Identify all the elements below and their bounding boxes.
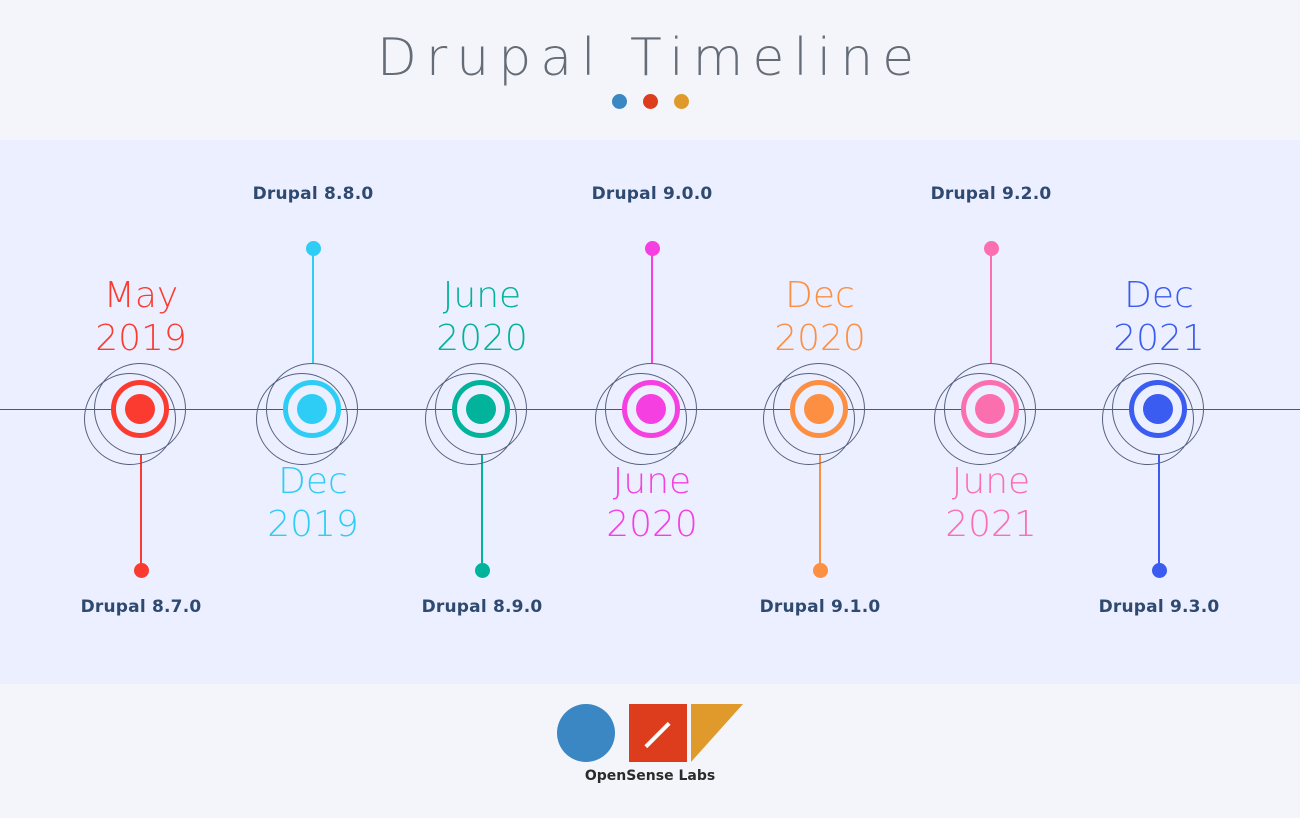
marker-stem (481, 455, 483, 570)
infographic-canvas: Drupal Timeline May 2019Drupal 8.7.0Dec … (0, 0, 1300, 818)
marker-rings (1112, 363, 1206, 457)
logo-square-icon (629, 704, 687, 762)
marker-stem (140, 455, 142, 570)
brand-name: OpenSense Labs (0, 768, 1300, 784)
marker-version-label: Drupal 9.3.0 (1009, 597, 1300, 617)
marker-stem-dot (813, 563, 828, 578)
logo-triangle-icon (691, 704, 743, 762)
marker-version-label: Drupal 8.7.0 (0, 597, 291, 617)
marker-date: June 2020 (362, 274, 602, 360)
header: Drupal Timeline (0, 0, 1300, 140)
marker-center-dot (1143, 394, 1173, 424)
marker-date: May 2019 (21, 274, 261, 360)
marker-version-label: Drupal 9.1.0 (670, 597, 970, 617)
marker-stem (312, 248, 314, 363)
logo-slash-icon (644, 722, 670, 748)
marker-stem-dot (645, 241, 660, 256)
marker-stem-dot (1152, 563, 1167, 578)
marker-stem (819, 455, 821, 570)
marker-center-dot (804, 394, 834, 424)
marker-stem-dot (475, 563, 490, 578)
marker-version-label: Drupal 8.8.0 (163, 184, 463, 204)
marker-rings (773, 363, 867, 457)
page-title: Drupal Timeline (0, 28, 1300, 88)
marker-rings (435, 363, 529, 457)
marker-date: June 2021 (871, 460, 1111, 546)
footer-logo: OpenSense Labs (0, 700, 1300, 784)
marker-stem-dot (306, 241, 321, 256)
marker-version-label: Drupal 8.9.0 (332, 597, 632, 617)
marker-center-dot (297, 394, 327, 424)
marker-stem (990, 248, 992, 363)
title-accent-dots (0, 94, 1300, 109)
marker-center-dot (466, 394, 496, 424)
marker-date: June 2020 (532, 460, 772, 546)
marker-version-label: Drupal 9.0.0 (502, 184, 802, 204)
marker-stem-dot (984, 241, 999, 256)
marker-rings (944, 363, 1038, 457)
marker-center-dot (636, 394, 666, 424)
accent-dot-blue (612, 94, 627, 109)
accent-dot-red (643, 94, 658, 109)
marker-rings (605, 363, 699, 457)
marker-date: Dec 2021 (1039, 274, 1279, 360)
marker-date: Dec 2020 (700, 274, 940, 360)
marker-center-dot (125, 394, 155, 424)
marker-stem (651, 248, 653, 363)
accent-dot-orange (674, 94, 689, 109)
logo-shapes (557, 700, 743, 762)
marker-date: Dec 2019 (193, 460, 433, 546)
marker-version-label: Drupal 9.2.0 (841, 184, 1141, 204)
marker-rings (94, 363, 188, 457)
marker-stem-dot (134, 563, 149, 578)
marker-stem (1158, 455, 1160, 570)
logo-circle-icon (557, 704, 615, 762)
marker-rings (266, 363, 360, 457)
marker-center-dot (975, 394, 1005, 424)
